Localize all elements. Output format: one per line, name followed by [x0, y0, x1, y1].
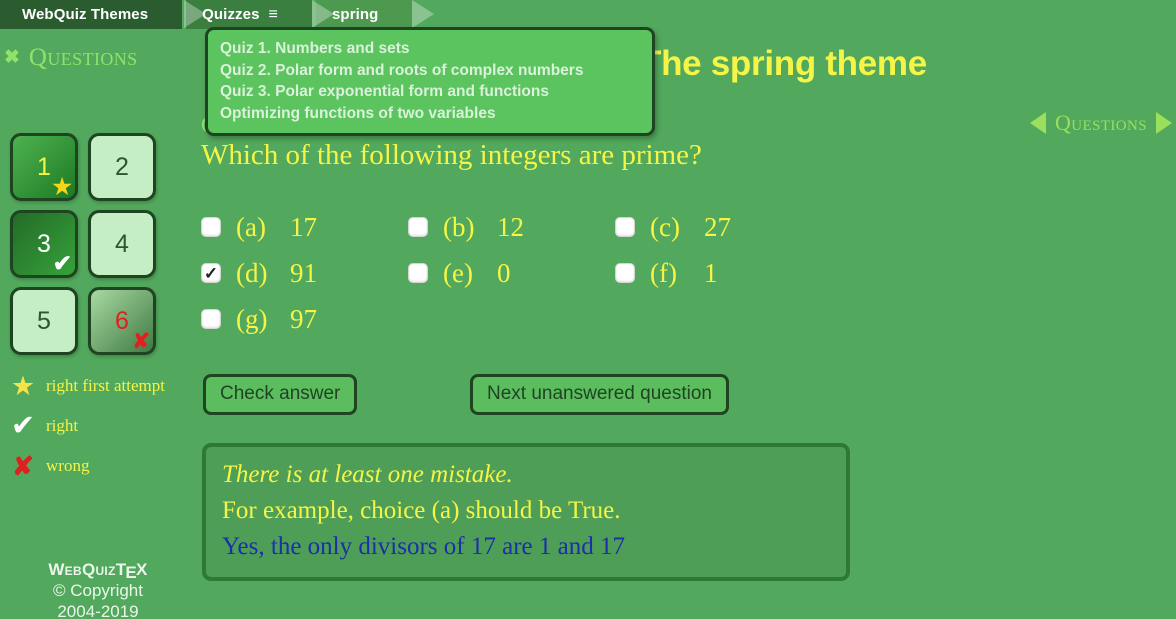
- choice-f[interactable]: ✓ (f) 1: [615, 258, 822, 289]
- question-button-6[interactable]: 6 ✘: [88, 287, 156, 355]
- choice-c[interactable]: ✓ (c) 27: [615, 212, 822, 243]
- brand-tex-e: E: [125, 562, 137, 583]
- question-button-3[interactable]: 3 ✔: [10, 210, 78, 278]
- dropdown-item-optimizing[interactable]: Optimizing functions of two variables: [218, 103, 642, 125]
- quiz-dropdown-menu[interactable]: Quiz 1. Numbers and sets Quiz 2. Polar f…: [205, 27, 655, 136]
- next-unanswered-question-button[interactable]: Next unanswered question: [470, 374, 729, 415]
- check-icon: ✓: [204, 265, 218, 282]
- feedback-line-explanation: Yes, the only divisors of 17 are 1 and 1…: [222, 529, 830, 565]
- choice-value: 27: [704, 212, 731, 243]
- dropdown-item-quiz3[interactable]: Quiz 3. Polar exponential form and funct…: [218, 81, 642, 103]
- legend: ★ right first attempt ✔ right ✘ wrong: [0, 372, 190, 492]
- hamburger-icon[interactable]: ≡: [269, 7, 278, 23]
- choice-value: 17: [290, 212, 317, 243]
- cross-icon: ✘: [132, 331, 150, 352]
- choice-a[interactable]: ✓ (a) 17: [201, 212, 408, 243]
- question-button-number: 6: [115, 307, 129, 336]
- nav-questions-label[interactable]: Questions: [1055, 110, 1147, 136]
- choice-label: (e): [443, 258, 489, 289]
- breadcrumb-label: Quizzes: [202, 6, 259, 23]
- checkbox-d[interactable]: ✓: [201, 263, 221, 283]
- choice-d[interactable]: ✓ (d) 91: [201, 258, 408, 289]
- legend-item-right: ✔ right: [0, 412, 190, 440]
- choice-list: ✓ (a) 17 ✓ (b) 12 ✓ (c) 27 ✓ (d): [201, 204, 821, 342]
- page-title: The spring theme: [640, 44, 927, 84]
- dropdown-item-quiz2[interactable]: Quiz 2. Polar form and roots of complex …: [218, 60, 642, 82]
- next-question-icon[interactable]: [1156, 112, 1172, 134]
- choice-row: ✓ (d) 91 ✓ (e) 0 ✓ (f) 1: [201, 250, 821, 296]
- question-text: Which of the following integers are prim…: [201, 139, 702, 172]
- question-button-2[interactable]: 2: [88, 133, 156, 201]
- checkbox-c[interactable]: ✓: [615, 217, 635, 237]
- choice-row: ✓ (a) 17 ✓ (b) 12 ✓ (c) 27: [201, 204, 821, 250]
- legend-label: right: [46, 412, 78, 437]
- breadcrumb-item-themes[interactable]: WebQuiz Themes: [0, 0, 182, 29]
- page-root: WebQuiz Themes Quizzes ≡ spring The spri…: [0, 0, 1176, 619]
- chevron-right-icon: [184, 0, 206, 28]
- choice-label: (a): [236, 212, 282, 243]
- copyright-line: © Copyright: [0, 580, 196, 601]
- brand-tex-x: X: [136, 560, 148, 579]
- check-answer-button[interactable]: Check answer: [203, 374, 357, 415]
- choice-row: ✓ (g) 97: [201, 296, 821, 342]
- copyright-years: 2004-2019: [0, 601, 196, 619]
- check-icon: ✔: [0, 412, 46, 440]
- legend-label: wrong: [46, 452, 89, 477]
- legend-item-wrong: ✘ wrong: [0, 452, 190, 480]
- choice-value: 97: [290, 304, 317, 335]
- close-icon[interactable]: ✖: [4, 48, 20, 67]
- legend-label: right first attempt: [46, 372, 165, 397]
- choice-value: 1: [704, 258, 718, 289]
- brand-logo: WebQuizTEX: [0, 559, 196, 580]
- legend-item-right-first: ★ right first attempt: [0, 372, 190, 400]
- sidebar: ✖ Questions 1 ★ 2 3 ✔ 4 5 6 ✘: [0, 29, 196, 619]
- choice-b[interactable]: ✓ (b) 12: [408, 212, 615, 243]
- checkbox-e[interactable]: ✓: [408, 263, 428, 283]
- choice-label: (g): [236, 304, 282, 335]
- choice-e[interactable]: ✓ (e) 0: [408, 258, 615, 289]
- question-button-grid: 1 ★ 2 3 ✔ 4 5 6 ✘: [10, 133, 170, 355]
- checkbox-g[interactable]: ✓: [201, 309, 221, 329]
- choice-label: (c): [650, 212, 696, 243]
- choice-label: (b): [443, 212, 489, 243]
- question-button-1[interactable]: 1 ★: [10, 133, 78, 201]
- checkbox-f[interactable]: ✓: [615, 263, 635, 283]
- feedback-box: There is at least one mistake. For examp…: [202, 443, 850, 581]
- star-icon: ★: [52, 176, 72, 198]
- breadcrumb-label: spring: [332, 6, 378, 23]
- choice-label: (d): [236, 258, 282, 289]
- checkbox-b[interactable]: ✓: [408, 217, 428, 237]
- choice-g[interactable]: ✓ (g) 97: [201, 304, 408, 335]
- cross-icon: ✘: [0, 452, 46, 480]
- star-icon: ★: [0, 372, 46, 400]
- chevron-right-icon: [312, 0, 334, 28]
- brand-webquiz: WebQuiz: [48, 560, 115, 579]
- prev-question-icon[interactable]: [1030, 112, 1046, 134]
- choice-label: (f): [650, 258, 696, 289]
- question-button-number: 3: [37, 230, 51, 259]
- breadcrumb: WebQuiz Themes Quizzes ≡ spring: [0, 0, 1176, 29]
- choice-value: 12: [497, 212, 524, 243]
- footer: WebQuizTEX © Copyright 2004-2019: [0, 559, 196, 619]
- choice-value: 91: [290, 258, 317, 289]
- sidebar-questions-header: ✖ Questions: [4, 45, 138, 70]
- check-icon: ✔: [53, 252, 72, 275]
- dropdown-item-quiz1[interactable]: Quiz 1. Numbers and sets: [218, 38, 642, 60]
- question-button-number: 4: [115, 230, 129, 259]
- chevron-right-icon: [412, 0, 434, 28]
- feedback-line-mistake: There is at least one mistake.: [222, 457, 830, 493]
- question-button-number: 5: [37, 307, 51, 336]
- question-nav: Questions: [1030, 110, 1172, 136]
- question-button-number: 1: [37, 153, 51, 182]
- checkbox-a[interactable]: ✓: [201, 217, 221, 237]
- question-button-4[interactable]: 4: [88, 210, 156, 278]
- question-button-5[interactable]: 5: [10, 287, 78, 355]
- feedback-line-example: For example, choice (a) should be True.: [222, 493, 830, 529]
- breadcrumb-label: WebQuiz Themes: [22, 6, 148, 23]
- choice-value: 0: [497, 258, 511, 289]
- sidebar-questions-label: Questions: [29, 45, 138, 70]
- question-button-number: 2: [115, 153, 129, 182]
